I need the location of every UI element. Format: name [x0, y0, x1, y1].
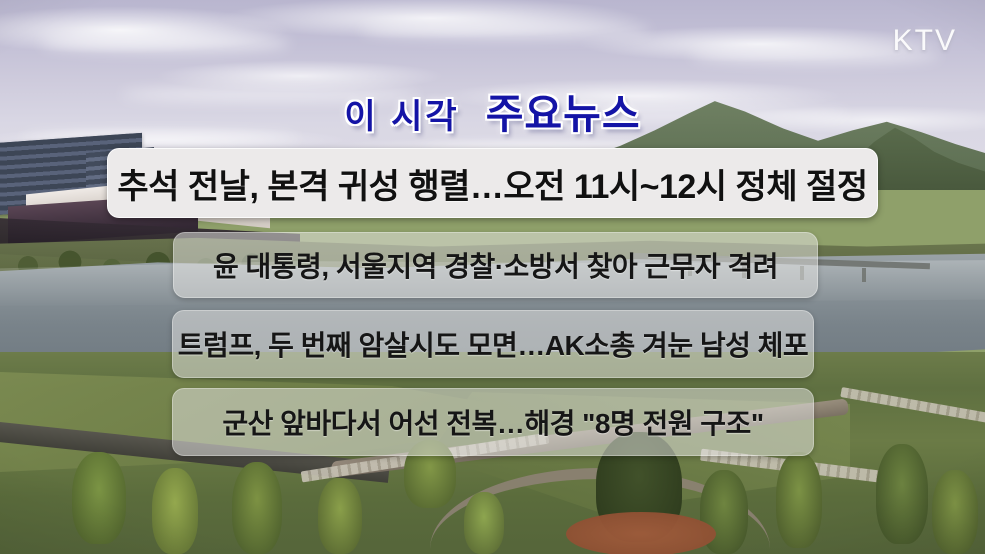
park-tree [932, 470, 978, 554]
headline-item-3[interactable]: 트럼프, 두 번째 암살시도 모면…AK소총 겨눈 남성 체포 [172, 310, 814, 378]
broadcast-screen: KTV 이 시각주요뉴스 추석 전날, 본격 귀성 행렬…오전 11시~12시 … [0, 0, 985, 554]
program-title-main: 주요뉴스 [486, 80, 641, 140]
headline-text: 윤 대통령, 서울지역 경찰·소방서 찾아 근무자 격려 [174, 245, 817, 285]
headline-text: 군산 앞바다서 어선 전복…해경 "8명 전원 구조" [173, 402, 813, 442]
cloud-streak [40, 34, 290, 52]
park-tree [72, 452, 126, 544]
headline-item-2[interactable]: 윤 대통령, 서울지역 경찰·소방서 찾아 근무자 격려 [173, 232, 818, 298]
park-tree [318, 478, 362, 554]
headline-text: 트럼프, 두 번째 암살시도 모면…AK소총 겨눈 남성 체포 [173, 324, 813, 364]
program-title: 이 시각주요뉴스 [0, 80, 985, 140]
program-title-lead: 이 시각 [344, 89, 459, 138]
park-plaza [566, 512, 716, 554]
headline-item-4[interactable]: 군산 앞바다서 어선 전복…해경 "8명 전원 구조" [172, 388, 814, 456]
park-tree [776, 452, 822, 548]
channel-logo: KTV [893, 24, 957, 58]
headline-item-1[interactable]: 추석 전날, 본격 귀성 행렬…오전 11시~12시 정체 절정 [107, 148, 878, 218]
park-tree [152, 468, 198, 554]
bridge-pier [862, 268, 866, 282]
park-tree [876, 444, 928, 544]
park-tree [232, 462, 282, 554]
park-tree [464, 492, 504, 554]
headline-text: 추석 전날, 본격 귀성 행렬…오전 11시~12시 정체 절정 [108, 159, 877, 208]
cloud-streak [360, 22, 650, 38]
